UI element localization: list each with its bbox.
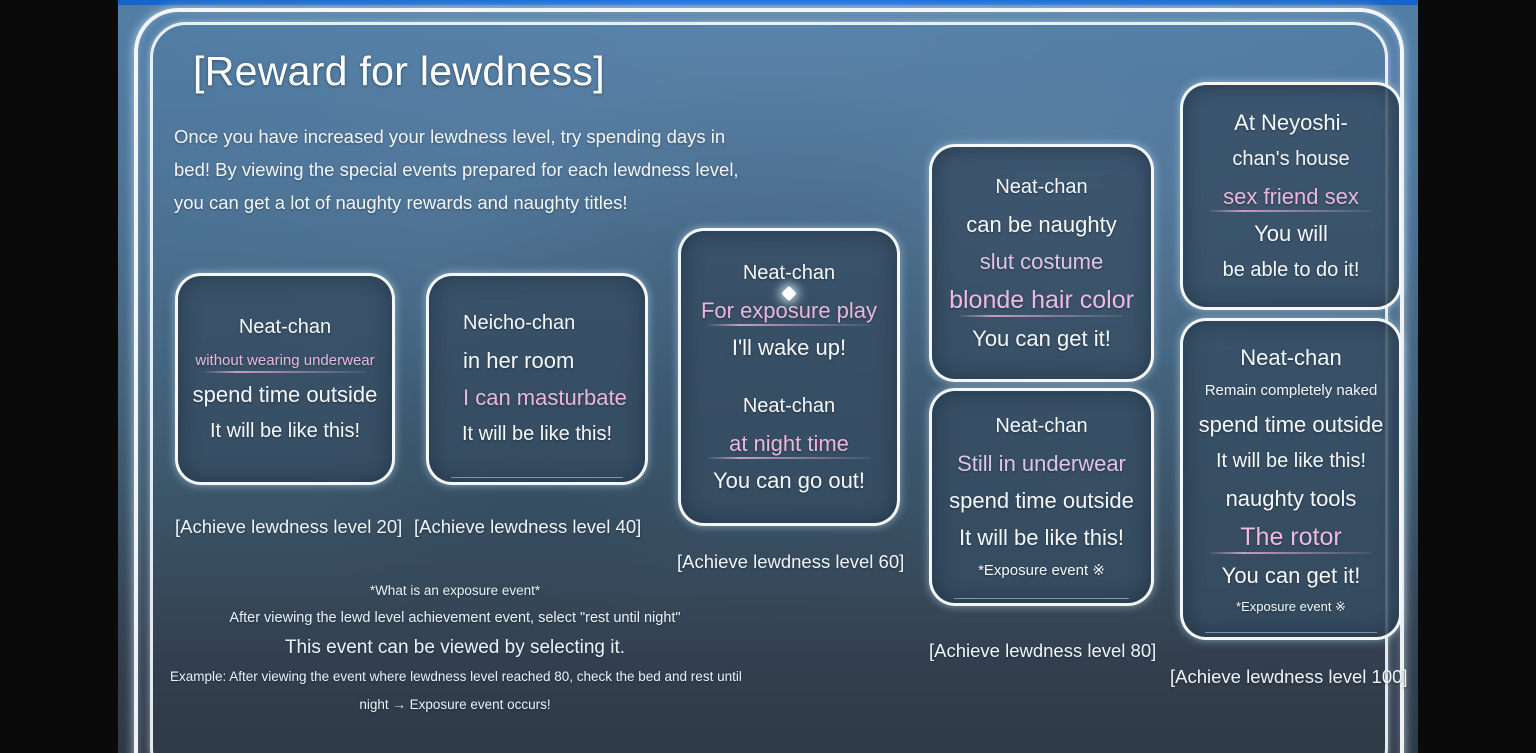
- card-line: spend time outside: [944, 482, 1139, 519]
- caption-level-100: [Achieve lewdness level 100]: [1170, 666, 1408, 688]
- card-line: Neat-chan: [944, 169, 1139, 206]
- card-line: It will be like this!: [190, 413, 380, 450]
- card-exposure-note: *Exposure event ※: [1195, 594, 1387, 620]
- caption-level-60: [Achieve lewdness level 60]: [677, 551, 904, 573]
- card-line-highlight: The rotor: [1195, 517, 1387, 557]
- footnote-line: night → Exposure event occurs!: [170, 691, 740, 719]
- footnote-line: This event can be viewed by selecting it…: [170, 632, 740, 663]
- card-level-40[interactable]: Neicho-chan in her room I can masturbate…: [426, 273, 648, 485]
- card-line: naughty tools: [1195, 480, 1387, 517]
- card-line: spend time outside: [1195, 406, 1387, 443]
- card-level-100[interactable]: Neat-chan Remain completely naked spend …: [1180, 318, 1402, 640]
- card-line: You can get it!: [944, 320, 1139, 357]
- card-neyoshi-house[interactable]: At Neyoshi- chan's house sex friend sex …: [1180, 82, 1402, 310]
- top-blue-strip: [118, 0, 1418, 5]
- card-level-80[interactable]: Neat-chan Still in underwear spend time …: [929, 388, 1154, 606]
- card-line: Neat-chan: [693, 388, 885, 425]
- card-line-highlight: without wearing underwear: [190, 346, 380, 376]
- card-line: be able to do it!: [1195, 252, 1387, 289]
- footnote-heading: *What is an exposure event*: [170, 578, 740, 604]
- card-level-60[interactable]: Neat-chan For exposure play I'll wake up…: [678, 228, 900, 526]
- card-line: You can go out!: [693, 462, 885, 499]
- card-line-highlight: Still in underwear: [944, 445, 1139, 482]
- card-line-highlight: sex friend sex: [1195, 178, 1387, 215]
- card-line-highlight: slut costume: [944, 243, 1139, 280]
- caption-level-20: [Achieve lewdness level 20]: [175, 516, 402, 538]
- intro-text: Once you have increased your lewdness le…: [174, 120, 744, 219]
- card-line: Neat-chan: [190, 309, 380, 346]
- card-line: Neat-chan: [1195, 339, 1387, 376]
- card-line: Neat-chan: [693, 255, 885, 292]
- card-line-highlight: blonde hair color: [944, 280, 1139, 320]
- card-line: spend time outside: [190, 376, 380, 413]
- footnote-line: After viewing the lewd level achievement…: [170, 604, 740, 632]
- caption-level-40: [Achieve lewdness level 40]: [414, 516, 641, 538]
- card-line: Neicho-chan: [441, 305, 633, 342]
- card-level-20[interactable]: Neat-chan without wearing underwear spen…: [175, 273, 395, 485]
- card-line-highlight: For exposure play: [693, 292, 885, 329]
- card-line-highlight: I can masturbate: [441, 379, 633, 416]
- exposure-event-footnote: *What is an exposure event* After viewin…: [170, 578, 740, 719]
- card-line-highlight: at night time: [693, 425, 885, 462]
- page-title: [Reward for lewdness]: [193, 48, 605, 95]
- footnote-line: Example: After viewing the event where l…: [170, 663, 740, 691]
- card-line: Neat-chan: [944, 408, 1139, 445]
- caption-level-80: [Achieve lewdness level 80]: [929, 640, 1156, 662]
- screenshot-root: [Reward for lewdness] Once you have incr…: [0, 0, 1536, 753]
- card-line: can be naughty: [944, 206, 1139, 243]
- card-line: I'll wake up!: [693, 329, 885, 366]
- card-line: It will be like this!: [441, 416, 633, 453]
- card-spacer: [693, 366, 885, 388]
- card-line: chan's house: [1195, 141, 1387, 178]
- card-costume-reward[interactable]: Neat-chan can be naughty slut costume bl…: [929, 144, 1154, 382]
- card-exposure-note: *Exposure event ※: [944, 556, 1139, 586]
- card-line: in her room: [441, 342, 633, 379]
- card-line: You can get it!: [1195, 557, 1387, 594]
- card-line: It will be like this!: [944, 519, 1139, 556]
- card-line: At Neyoshi-: [1195, 104, 1387, 141]
- card-line-highlight: Remain completely naked: [1195, 376, 1387, 406]
- card-line: You will: [1195, 215, 1387, 252]
- card-line: It will be like this!: [1195, 443, 1387, 480]
